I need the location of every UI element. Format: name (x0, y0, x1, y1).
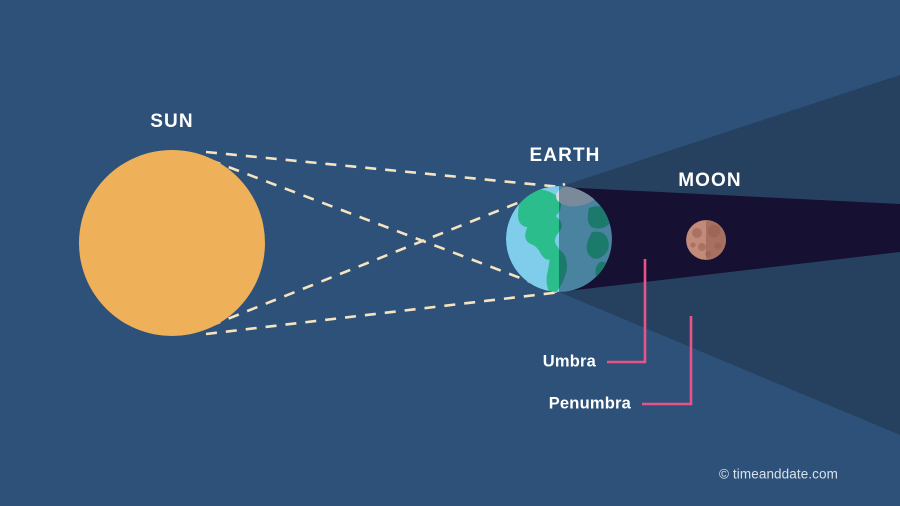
copyright-credit: © timeanddate.com (719, 467, 838, 482)
sun-label: SUN (150, 111, 193, 133)
lunar-eclipse-diagram: SUN EARTH MOON Umbra Penumbra © timeandd… (0, 0, 900, 506)
penumbra-label: Penumbra (549, 395, 631, 414)
diagram-canvas (0, 0, 900, 506)
earth-label: EARTH (530, 145, 601, 167)
umbra-label: Umbra (543, 353, 596, 372)
sun-disk (79, 150, 265, 336)
moon-label: MOON (678, 170, 742, 192)
